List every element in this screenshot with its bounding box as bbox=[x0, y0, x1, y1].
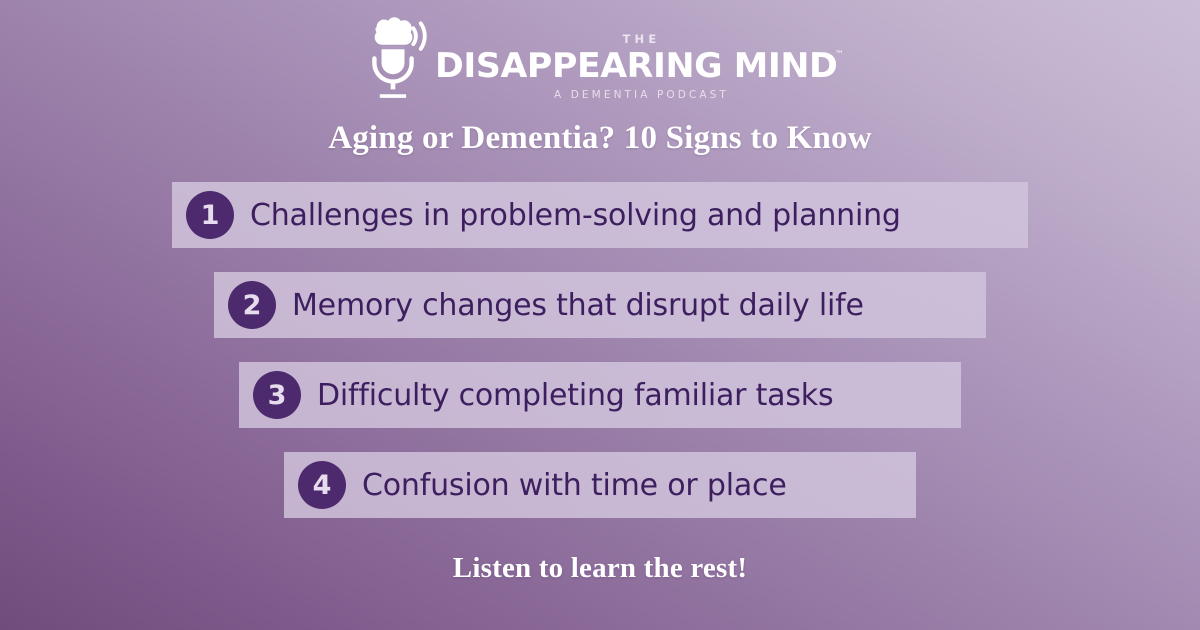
list-item-label: Memory changes that disrupt daily life bbox=[292, 288, 864, 323]
podcast-logo: THE DISAPPEARING MIND ™ A DEMENTIA PODCA… bbox=[0, 14, 1200, 100]
list-item: 1 Challenges in problem-solving and plan… bbox=[172, 182, 1028, 248]
microphone-brain-icon bbox=[356, 14, 430, 100]
social-card: THE DISAPPEARING MIND ™ A DEMENTIA PODCA… bbox=[0, 0, 1200, 630]
page-title: Aging or Dementia? 10 Signs to Know bbox=[0, 120, 1200, 157]
logo-wordmark: THE DISAPPEARING MIND ™ A DEMENTIA PODCA… bbox=[439, 14, 843, 100]
list-item-label: Difficulty completing familiar tasks bbox=[317, 378, 833, 413]
list-item: 3 Difficulty completing familiar tasks bbox=[239, 362, 961, 428]
logo-name-row: DISAPPEARING MIND ™ bbox=[439, 49, 843, 83]
list-item-label: Confusion with time or place bbox=[362, 468, 787, 503]
item-number-badge: 3 bbox=[253, 371, 301, 419]
logo-the-label: THE bbox=[623, 34, 661, 46]
list-item-label: Challenges in problem-solving and planni… bbox=[250, 198, 901, 233]
item-number-badge: 1 bbox=[186, 191, 234, 239]
item-number-badge: 2 bbox=[228, 281, 276, 329]
list-item: 2 Memory changes that disrupt daily life bbox=[214, 272, 986, 338]
logo-tagline: A DEMENTIA PODCAST bbox=[554, 90, 729, 101]
item-number-badge: 4 bbox=[298, 461, 346, 509]
list-item: 4 Confusion with time or place bbox=[284, 452, 916, 518]
call-to-action-text: Listen to learn the rest! bbox=[0, 552, 1200, 585]
logo-name: DISAPPEARING MIND bbox=[435, 49, 837, 83]
signs-list: 1 Challenges in problem-solving and plan… bbox=[0, 182, 1200, 518]
